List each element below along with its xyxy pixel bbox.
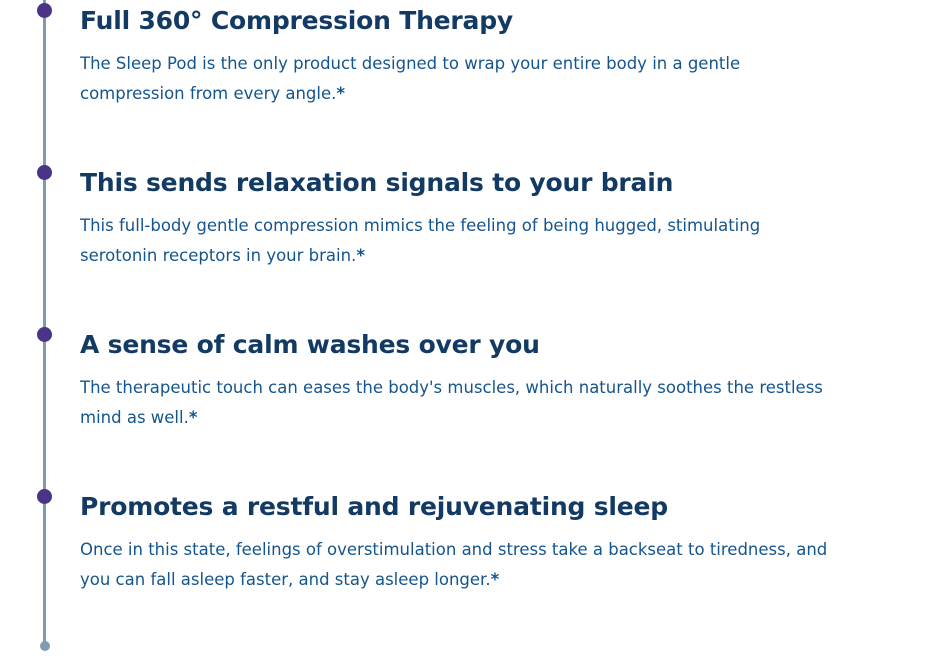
footnote-marker: *: [491, 570, 500, 589]
timeline-item-title: This sends relaxation signals to your br…: [80, 168, 920, 198]
timeline-item-description-text: Once in this state, feelings of overstim…: [80, 540, 827, 589]
timeline-bullet-dot: [37, 327, 52, 342]
timeline-item-description-text: This full-body gentle compression mimics…: [80, 216, 760, 265]
timeline-item-title: Full 360° Compression Therapy: [80, 6, 920, 36]
timeline-item-description: This full-body gentle compression mimics…: [80, 211, 840, 271]
timeline-item-title: Promotes a restful and rejuvenating slee…: [80, 492, 920, 522]
timeline-item-body: A sense of calm washes over you The ther…: [80, 330, 920, 433]
timeline-item-body: Full 360° Compression Therapy The Sleep …: [80, 6, 920, 109]
timeline-item-body: Promotes a restful and rejuvenating slee…: [80, 492, 920, 595]
timeline-item-body: This sends relaxation signals to your br…: [80, 168, 920, 271]
timeline-item-description: Once in this state, feelings of overstim…: [80, 535, 840, 595]
timeline-item-description-text: The Sleep Pod is the only product design…: [80, 54, 740, 103]
footnote-marker: *: [356, 246, 365, 265]
benefits-timeline: Full 360° Compression Therapy The Sleep …: [0, 0, 946, 660]
timeline-bullet-dot: [37, 165, 52, 180]
timeline-item-description: The therapeutic touch can eases the body…: [80, 373, 840, 433]
timeline-item-description: The Sleep Pod is the only product design…: [80, 49, 840, 109]
footnote-marker: *: [336, 84, 345, 103]
timeline-rail: [43, 0, 46, 646]
timeline-rail-end-dot: [40, 641, 50, 651]
timeline-bullet-dot: [37, 3, 52, 18]
timeline-item-title: A sense of calm washes over you: [80, 330, 920, 360]
timeline-bullet-dot: [37, 489, 52, 504]
footnote-marker: *: [189, 408, 198, 427]
